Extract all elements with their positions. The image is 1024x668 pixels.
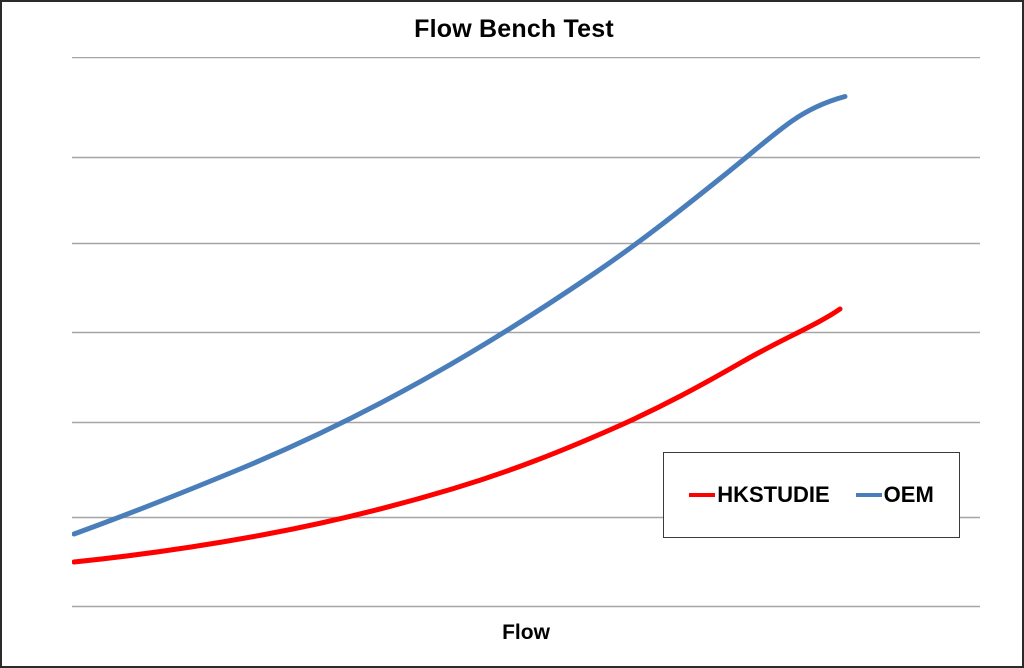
legend-label-hkstudie: HKSTUDIE <box>717 483 829 507</box>
x-axis-title: Flow <box>72 620 980 646</box>
legend-item-oem[interactable]: OEM <box>856 483 934 507</box>
y-axis-title: Pressure <box>14 250 48 380</box>
legend-color-swatch-hkstudie <box>689 493 715 497</box>
legend-item-hkstudie[interactable]: HKSTUDIE <box>689 483 829 507</box>
chart-title: Flow Bench Test <box>2 14 1024 44</box>
legend-label-oem: OEM <box>884 483 934 507</box>
legend-color-swatch-oem <box>856 493 882 497</box>
chart-legend: HKSTUDIE OEM <box>663 452 960 538</box>
chart-container: Flow Bench Test Pressure Flow HKSTUDIE <box>0 0 1024 668</box>
